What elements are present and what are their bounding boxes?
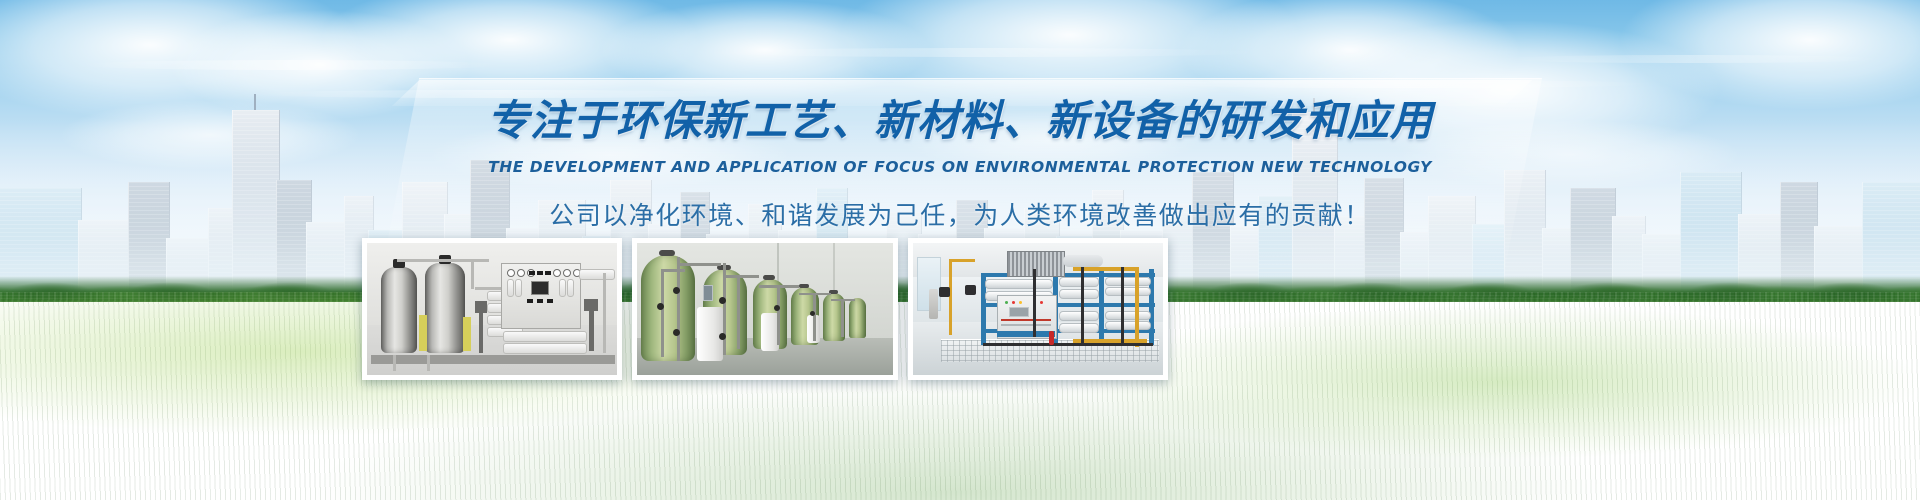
hero-banner: 专注于环保新工艺、新材料、新设备的研发和应用 THE DEVELOPMENT A… (0, 0, 1920, 500)
photo-3-image (913, 243, 1163, 375)
photo-2-image (637, 243, 893, 375)
photo-1-image (367, 243, 617, 375)
photo-industrial-ro-plant[interactable] (908, 238, 1168, 380)
banner-subtitle-chinese: 公司以净化环境、和谐发展为己任，为人类环境改善做出应有的贡献！ (0, 196, 1920, 232)
photo-green-frp-filter-tanks[interactable] (632, 238, 898, 380)
photo-stainless-steel-ro-system[interactable] (362, 238, 622, 380)
banner-subtitle-english: THE DEVELOPMENT AND APPLICATION OF FOCUS… (0, 158, 1920, 176)
banner-text-block: 专注于环保新工艺、新材料、新设备的研发和应用 THE DEVELOPMENT A… (0, 96, 1920, 232)
banner-headline: 专注于环保新工艺、新材料、新设备的研发和应用 (0, 96, 1920, 146)
